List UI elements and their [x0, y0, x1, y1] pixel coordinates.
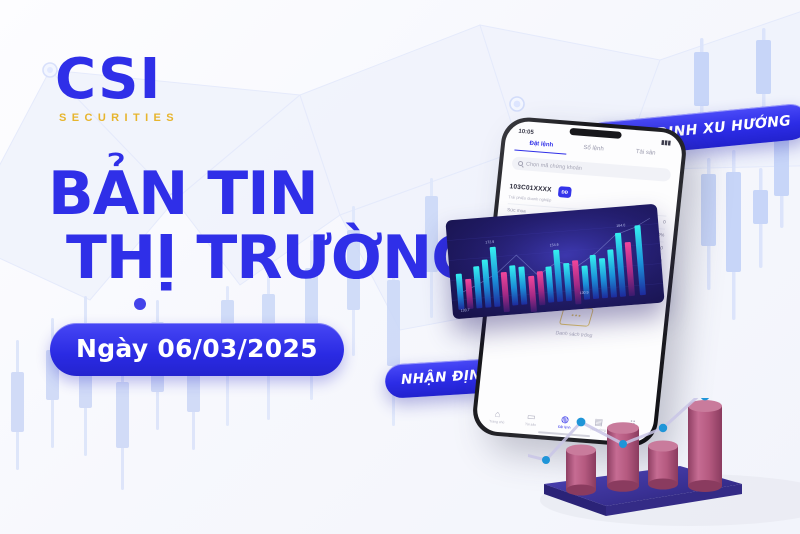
status-time: 10:05 [518, 128, 534, 135]
title-line-1: BẢN TIN [48, 166, 480, 224]
logo-wordmark: CSI [55, 52, 179, 108]
chart-label: 133.7 [460, 308, 469, 313]
prop-bar [688, 400, 722, 492]
market-newsletter-banner: CSI SECURITIES BẢN TIN THỊ TRƯỜNG Ngày 0… [0, 0, 800, 534]
tab-so-lenh[interactable]: Sổ lệnh [567, 144, 620, 159]
chart-label: 164.0 [616, 223, 625, 228]
search-icon [518, 161, 524, 166]
prop-bar [566, 445, 596, 496]
info-value: 0 [663, 220, 666, 225]
background-candlesticks-right [694, 28, 789, 320]
nav-label: Trang chủ [480, 419, 514, 426]
title-line-2: THỊ TRƯỜNG [66, 230, 480, 288]
nav-item-home[interactable]: ⌂ Trang chủ [480, 408, 515, 425]
logo-tagline: SECURITIES [59, 112, 179, 124]
date-badge: Ngày 06/03/2025 [50, 323, 344, 376]
chart-label: 130.9 [579, 290, 588, 295]
home-icon: ⌂ [480, 408, 515, 420]
symbol-code: 103C01XXXX [509, 183, 552, 193]
prop-bar [648, 441, 678, 490]
chart-label: 154.6 [550, 243, 559, 248]
tab-dat-lenh[interactable]: Đặt lệnh [514, 140, 567, 155]
search-placeholder: Chọn mã chứng khoán [526, 161, 582, 171]
prop-canvas [528, 398, 758, 528]
symbol-subtitle: Trái phiếu doanh nghiệp [508, 194, 551, 202]
chart-canvas: 133.7 172.9 154.6 130.9 164.0 [445, 204, 664, 320]
floating-chart-card: 133.7 172.9 154.6 130.9 164.0 [445, 204, 664, 320]
info-label: Sức mua [507, 208, 526, 214]
info-value: 0 [660, 245, 663, 250]
prop-bar [607, 422, 639, 492]
page-title: BẢN TIN THỊ TRƯỜNG [48, 166, 480, 287]
symbol-info: 103C01XXXX Trái phiếu doanh nghiệp [508, 175, 553, 202]
csi-logo: CSI SECURITIES [55, 52, 179, 124]
symbol-chip[interactable]: ĐĐ [558, 186, 572, 198]
chart-label: 172.9 [485, 240, 494, 245]
3d-bar-chart-prop [528, 398, 758, 528]
empty-state-text: Danh sách trống [485, 325, 662, 345]
tab-tai-san[interactable]: Tài sản [619, 148, 672, 163]
status-icons: ▮▮▮ [661, 139, 672, 147]
